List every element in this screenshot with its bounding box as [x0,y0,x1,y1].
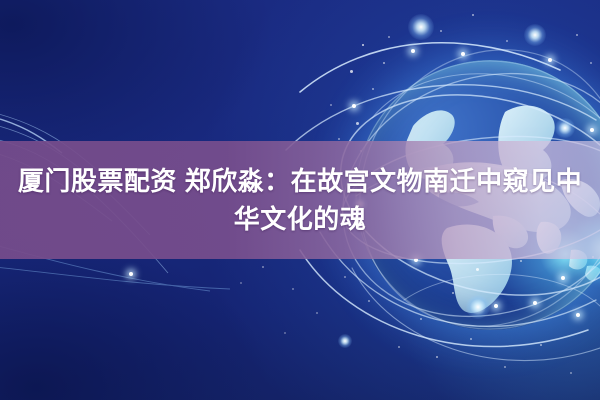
network-node [352,104,356,108]
star-dot [452,292,454,294]
light-flare [408,14,434,40]
light-flare [555,118,575,138]
network-node [561,276,565,280]
star-dot [476,268,479,271]
title-band: 厦门股票配资 郑欣淼：在故宫文物南迁中窥见中 华文化的魂 [0,141,600,259]
star-dot [436,356,438,358]
star-dot [440,30,442,32]
star-dot [398,346,400,348]
star-dot [570,372,572,374]
star-dot [388,36,390,38]
network-node [129,272,133,276]
star-dot [344,276,346,278]
network-node [590,128,594,132]
star-dot [350,70,353,73]
light-flare [466,295,490,319]
star-dot [262,266,264,268]
star-dot [470,338,472,340]
title-band-content: 厦门股票配资 郑欣淼：在故宫文物南迁中窥见中 华文化的魂 [0,141,600,259]
network-node [548,58,552,62]
light-flare [524,24,546,46]
star-dot [292,288,294,290]
star-dot [240,282,242,284]
star-dot [316,312,318,314]
star-dot [330,104,332,106]
star-dot [590,62,592,64]
network-node [494,304,498,308]
star-dot [338,138,340,140]
star-dot [372,88,374,90]
star-dot [356,122,359,125]
network-node [461,52,465,56]
star-dot [284,332,286,334]
promo-banner: 厦门股票配资 郑欣淼：在故宫文物南迁中窥见中 华文化的魂 [0,0,600,400]
star-dot [506,40,508,42]
headline-line-2: 华文化的魂 [234,200,367,238]
headline-line-1: 厦门股票配资 郑欣淼：在故宫文物南迁中窥见中 [18,162,582,200]
network-node [576,313,580,317]
light-flare [338,334,352,348]
star-dot [504,366,506,368]
network-node [411,49,415,53]
star-dot [383,62,385,64]
star-dot [472,14,474,16]
star-dot [362,44,364,46]
star-dot [576,34,578,36]
star-dot [368,300,370,302]
star-dot [420,318,422,320]
star-dot [540,344,542,346]
star-dot [520,260,522,262]
network-node [533,301,537,305]
